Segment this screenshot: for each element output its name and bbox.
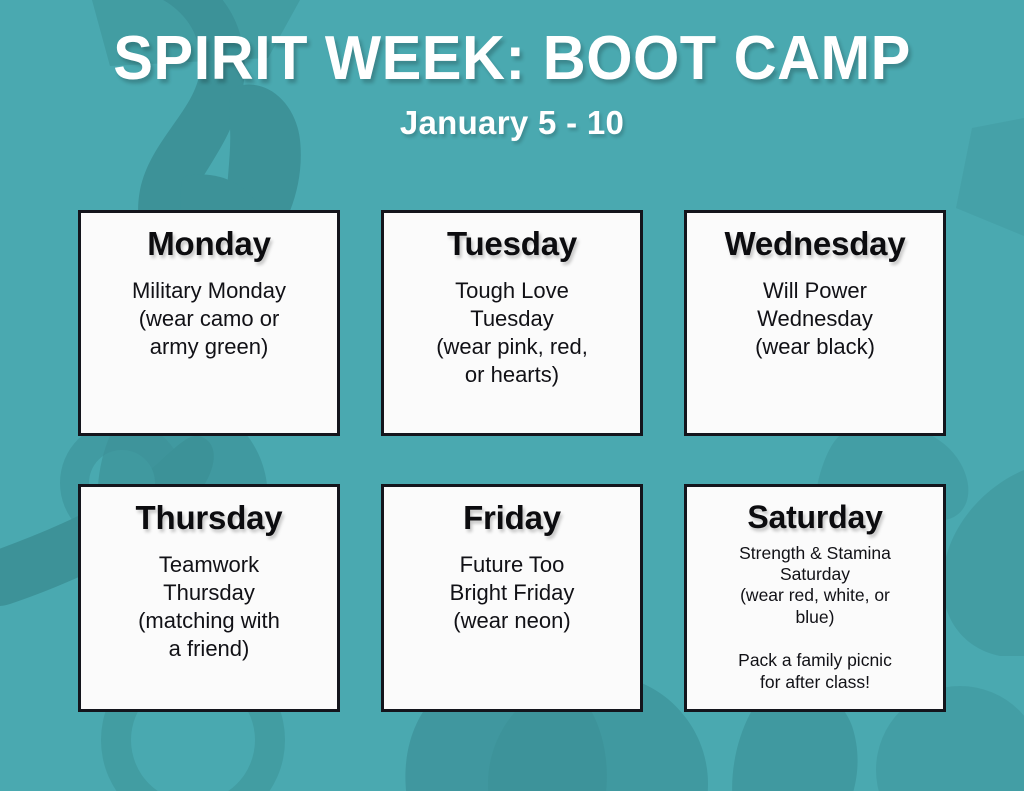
day-card-description: Military Monday (wear camo or army green…: [91, 263, 327, 361]
day-card-tuesday: Tuesday Tough Love Tuesday (wear pink, r…: [381, 210, 643, 436]
day-card-title: Friday: [394, 499, 630, 537]
day-card-title: Saturday: [697, 499, 933, 536]
day-card-description: Teamwork Thursday (matching with a frien…: [91, 537, 327, 664]
day-card-description: Strength & Stamina Saturday (wear red, w…: [697, 536, 933, 628]
day-card-thursday: Thursday Teamwork Thursday (matching wit…: [78, 484, 340, 712]
day-card-note: Pack a family picnic for after class!: [697, 628, 933, 693]
day-card-description: Tough Love Tuesday (wear pink, red, or h…: [394, 263, 630, 390]
day-card-saturday: Saturday Strength & Stamina Saturday (we…: [684, 484, 946, 712]
day-card-description: Will Power Wednesday (wear black): [697, 263, 933, 361]
day-card-title: Tuesday: [394, 225, 630, 263]
day-card-grid: Monday Military Monday (wear camo or arm…: [78, 210, 946, 712]
day-card-monday: Monday Military Monday (wear camo or arm…: [78, 210, 340, 436]
blob-right-edge: [942, 470, 1024, 656]
page-subtitle: January 5 - 10: [0, 90, 1024, 139]
day-card-wednesday: Wednesday Will Power Wednesday (wear bla…: [684, 210, 946, 436]
page-title: SPIRIT WEEK: BOOT CAMP: [20, 0, 1003, 90]
day-card-title: Monday: [91, 225, 327, 263]
day-card-title: Thursday: [91, 499, 327, 537]
spirit-week-poster: SPIRIT WEEK: BOOT CAMP January 5 - 10 Mo…: [0, 0, 1024, 791]
poster-header: SPIRIT WEEK: BOOT CAMP January 5 - 10: [0, 0, 1024, 139]
day-card-description: Future Too Bright Friday (wear neon): [394, 537, 630, 635]
day-card-title: Wednesday: [697, 225, 933, 263]
day-card-friday: Friday Future Too Bright Friday (wear ne…: [381, 484, 643, 712]
